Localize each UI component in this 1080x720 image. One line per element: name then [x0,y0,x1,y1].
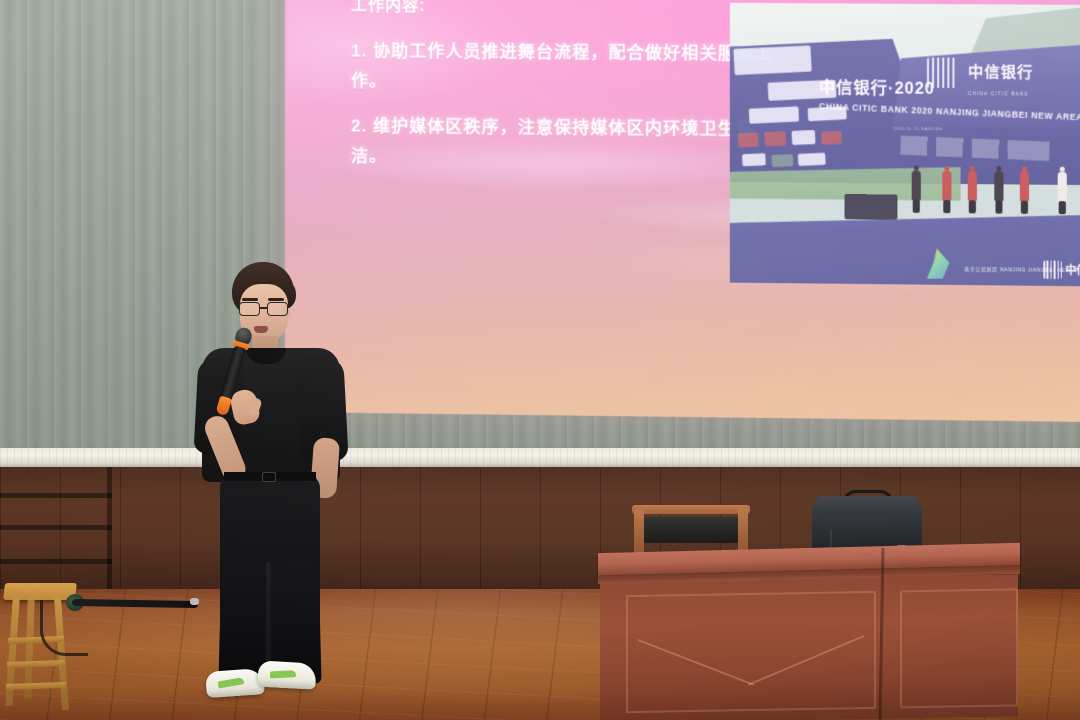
bottom-sponsor-text: 中信 [1065,262,1080,278]
slide-embedded-photo: 中信银行·2020 CHINA CITIC BANK 2020 NANJING … [730,3,1080,287]
projection-screen: 工作内容: 1. 协助工作人员推进舞台流程，配合做好相关服务工作。 2. 维护媒… [285,0,1080,422]
presenter [196,262,344,720]
banner-subtitle: 2020.11.15 NANJING [893,127,943,131]
photo-stage-box [845,194,897,220]
sneaker-stripe [270,670,296,678]
logo-tile [791,130,815,145]
wainscot-slats [0,467,112,589]
belt-buckle [262,472,276,482]
sneaker-stripe [218,677,245,688]
wall-trim [0,448,1080,467]
logo-tile [748,107,799,124]
podium-panel [900,588,1018,708]
sneaker-left [205,668,265,698]
banner-headline-cn: 中信银行·2020 [819,73,935,98]
citic-logo-icon [927,57,958,88]
logo-tile [733,45,811,74]
podium-body [600,574,1018,720]
chair-backrest-pad [644,517,738,543]
stool-rung [6,682,66,690]
jiangbei-logo-icon [927,249,949,280]
logo-tile [764,131,785,145]
slide-title: 工作内容: [351,0,774,17]
photo-performer [994,171,1003,201]
presenter-mouth [254,326,268,333]
photo-performer [968,171,977,201]
logo-tile [741,154,765,167]
podium-chevron-inlay [638,635,864,691]
bottom-sponsor-lockup: 中信 [1044,260,1080,279]
presenter-eyebrow [268,298,284,301]
citic-logo-icon [1044,260,1062,278]
eyeglasses-icon [238,302,290,316]
sneaker-right [257,661,316,690]
logo-tile [798,152,825,165]
photo-performer [1020,171,1029,201]
photo-performer [942,170,951,200]
logo-tile [737,133,758,147]
stool-rung [7,660,65,668]
citic-logo-cn: 中信银行 [968,60,1033,82]
slide-text-block: 工作内容: 1. 协助工作人员推进舞台流程，配合做好相关服务工作。 2. 维护媒… [351,0,774,189]
presenter-eyebrow [242,298,258,301]
chair-top-rail [632,505,750,514]
microphone-base [215,396,231,417]
sneaker-sole [257,679,315,689]
glasses-bridge [260,307,267,309]
logo-tile [821,130,843,145]
bag-flap [816,496,918,516]
citic-logo-en: CHINA CITIC BANK [968,91,1029,97]
photo-performer [1058,171,1067,201]
trouser-gap [266,562,271,674]
slide-item-1: 1. 协助工作人员推进舞台流程，配合做好相关服务工作。 [351,36,774,100]
glasses-lens [239,302,260,316]
wooden-podium [598,548,1020,720]
logo-tile [771,154,792,167]
photo-scene: 工作内容: 1. 协助工作人员推进舞台流程，配合做好相关服务工作。 2. 维护媒… [0,0,1080,720]
sneaker-sole [206,687,264,698]
photo-performer [912,170,921,200]
glasses-lens [267,302,288,316]
slide-item-2: 2. 维护媒体区秩序，注意保持媒体区内环境卫生整洁。 [351,111,774,175]
